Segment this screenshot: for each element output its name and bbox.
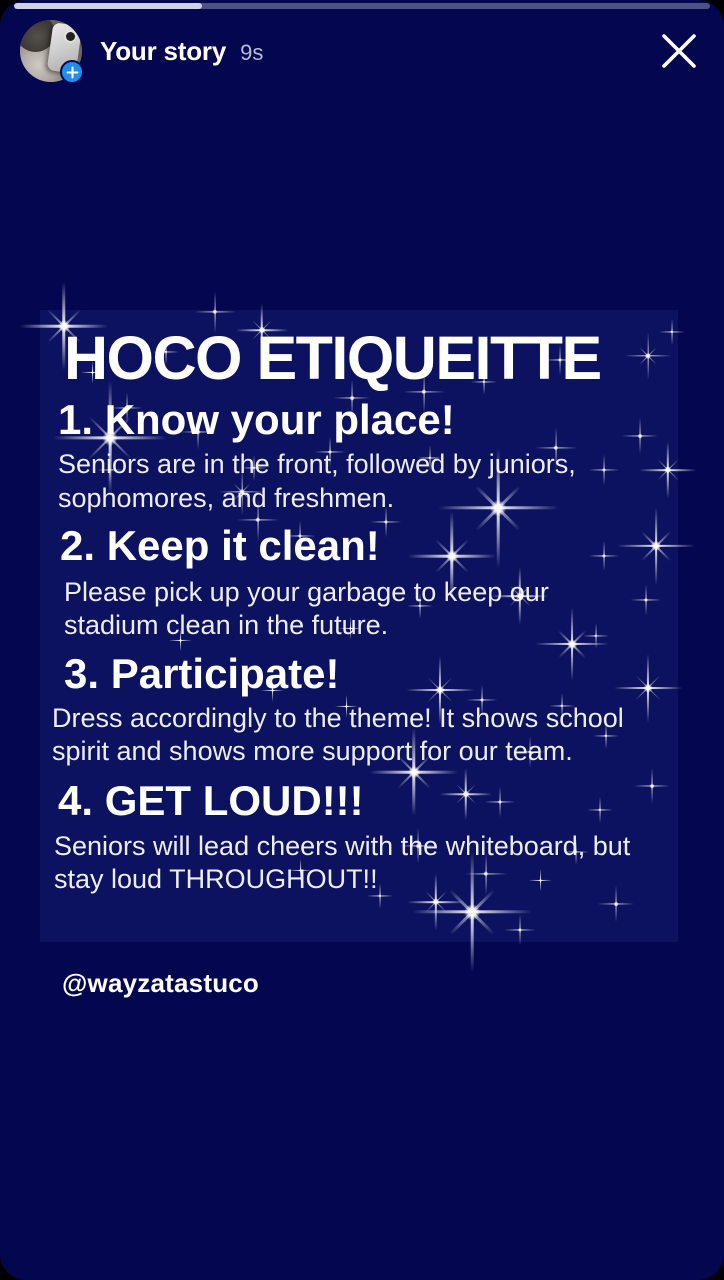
- story-screen: Your story 9s HOCO ETIQUEITTE 1. Know yo…: [0, 0, 724, 1280]
- story-handle: @wayzatastuco: [62, 968, 259, 999]
- rule-item: 1. Know your place! Seniors are in the f…: [40, 391, 678, 515]
- rule-heading: 4. GET LOUD!!!: [40, 768, 678, 823]
- rule-body: Seniors are in the front, followed by ju…: [40, 442, 640, 514]
- rule-item: 2. Keep it clean! Please pick up your ga…: [40, 515, 678, 643]
- rule-body: Dress accordingly to the theme! It shows…: [40, 696, 654, 768]
- rule-item: 4. GET LOUD!!! Seniors will lead cheers …: [40, 768, 678, 896]
- story-content-panel: HOCO ETIQUEITTE 1. Know your place! Seni…: [40, 310, 678, 942]
- plus-icon[interactable]: [60, 60, 84, 84]
- story-progress-bar[interactable]: [14, 3, 710, 9]
- rule-body: Please pick up your garbage to keep our …: [40, 568, 648, 642]
- rule-item: 3. Participate! Dress accordingly to the…: [40, 643, 678, 769]
- rule-body: Seniors will lead cheers with the whiteb…: [40, 824, 654, 896]
- story-title: HOCO ETIQUEITTE: [40, 310, 678, 391]
- rule-heading: 2. Keep it clean!: [40, 515, 678, 568]
- story-header-text: Your story 9s: [100, 36, 652, 67]
- story-progress-fill: [14, 3, 202, 9]
- close-icon[interactable]: [652, 24, 706, 78]
- story-owner-label: Your story: [100, 36, 226, 67]
- rule-heading: 1. Know your place!: [40, 391, 678, 442]
- avatar[interactable]: [20, 20, 82, 82]
- rule-heading: 3. Participate!: [40, 643, 678, 696]
- story-timestamp: 9s: [240, 40, 263, 66]
- story-header: Your story 9s: [0, 20, 724, 82]
